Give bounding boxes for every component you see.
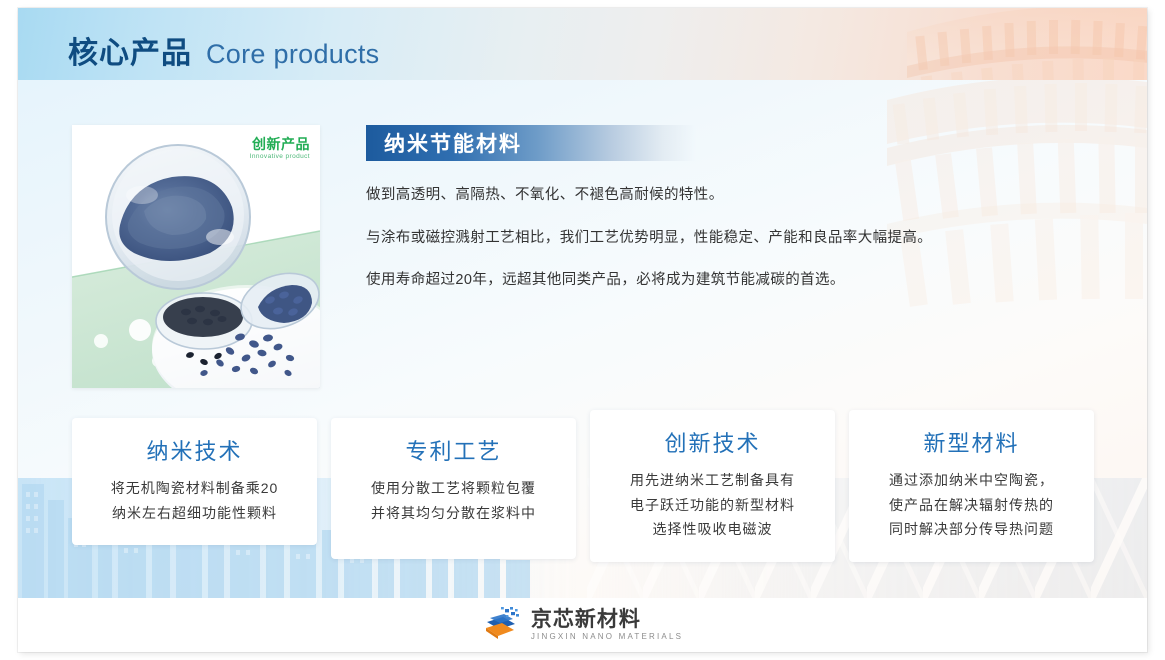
page-title-en: Core products [206,39,379,70]
feature-card-line: 将无机陶瓷材料制备乘20 [86,476,303,501]
section-banner: 纳米节能材料 [366,125,696,161]
feature-card[interactable]: 专利工艺 使用分散工艺将颗粒包覆 并将其均匀分散在浆料中 [331,418,576,559]
feature-card-list: 纳米技术 将无机陶瓷材料制备乘20 纳米左右超细功能性颗料 专利工艺 使用分散工… [72,418,1094,562]
feature-card-line: 使用分散工艺将颗粒包覆 [345,476,562,501]
feature-card-line: 纳米左右超细功能性颗料 [86,501,303,526]
feature-card-title: 创新技术 [604,426,821,458]
feature-card-line: 选择性吸收电磁波 [604,517,821,542]
feature-card[interactable]: 新型材料 通过添加纳米中空陶瓷， 使产品在解决辐射传热的 同时解决部分传导热问题 [849,410,1094,562]
feature-card-line: 并将其均匀分散在浆料中 [345,501,562,526]
page-frame: 核心产品 Core products [18,8,1147,652]
description-paragraph: 做到高透明、高隔热、不氧化、不褪色高耐候的特性。 [366,183,1066,208]
description-paragraph: 使用寿命超过20年，远超其他同类产品，必将成为建筑节能减碳的首选。 [366,268,1066,293]
feature-card-line: 电子跃迁功能的新型材料 [604,493,821,518]
logo-name-cn: 京芯新材料 [531,609,683,630]
page-title: 核心产品 Core products [68,28,379,72]
description-paragraph: 与涂布或磁控溅射工艺相比，我们工艺优势明显，性能稳定、产能和良品率大幅提高。 [366,226,1066,251]
logo-text: 京芯新材料 JINGXIN NANO MATERIALS [531,609,683,641]
slide-root: 核心产品 Core products [0,0,1165,660]
description-paragraphs: 做到高透明、高隔热、不氧化、不褪色高耐候的特性。 与涂布或磁控溅射工艺相比，我们… [366,183,1066,293]
feature-card-line: 同时解决部分传导热问题 [863,517,1080,542]
feature-card-line: 通过添加纳米中空陶瓷， [863,468,1080,493]
logo-mark-icon [482,606,522,645]
feature-card-title: 新型材料 [863,426,1080,458]
page-header: 核心产品 Core products [18,8,1147,80]
feature-card[interactable]: 纳米技术 将无机陶瓷材料制备乘20 纳米左右超细功能性颗料 [72,418,317,545]
product-description-column: 纳米节能材料 做到高透明、高隔热、不氧化、不褪色高耐候的特性。 与涂布或磁控溅射… [366,125,1066,311]
company-logo: 京芯新材料 JINGXIN NANO MATERIALS [482,606,683,645]
content-area: 创新产品 Innovative product 纳米节能材料 做到高透明、高隔热… [18,80,1147,598]
product-badge-en: Innovative product [250,153,310,160]
feature-card-title: 专利工艺 [345,434,562,466]
product-image: 创新产品 Innovative product [72,125,320,388]
feature-card[interactable]: 创新技术 用先进纳米工艺制备具有 电子跃迁功能的新型材料 选择性吸收电磁波 [590,410,835,562]
feature-card-description: 用先进纳米工艺制备具有 电子跃迁功能的新型材料 选择性吸收电磁波 [604,468,821,542]
product-badge-cn: 创新产品 [252,134,310,154]
section-banner-title: 纳米节能材料 [384,128,522,158]
page-title-cn: 核心产品 [68,28,192,72]
building-watermark-icon [907,8,1147,80]
feature-card-line: 用先进纳米工艺制备具有 [604,468,821,493]
feature-card-title: 纳米技术 [86,434,303,466]
feature-card-description: 通过添加纳米中空陶瓷， 使产品在解决辐射传热的 同时解决部分传导热问题 [863,468,1080,542]
logo-name-en: JINGXIN NANO MATERIALS [531,633,683,641]
feature-card-line: 使产品在解决辐射传热的 [863,493,1080,518]
page-footer: 京芯新材料 JINGXIN NANO MATERIALS [18,598,1147,652]
feature-card-description: 使用分散工艺将颗粒包覆 并将其均匀分散在浆料中 [345,476,562,525]
feature-card-description: 将无机陶瓷材料制备乘20 纳米左右超细功能性颗料 [86,476,303,525]
